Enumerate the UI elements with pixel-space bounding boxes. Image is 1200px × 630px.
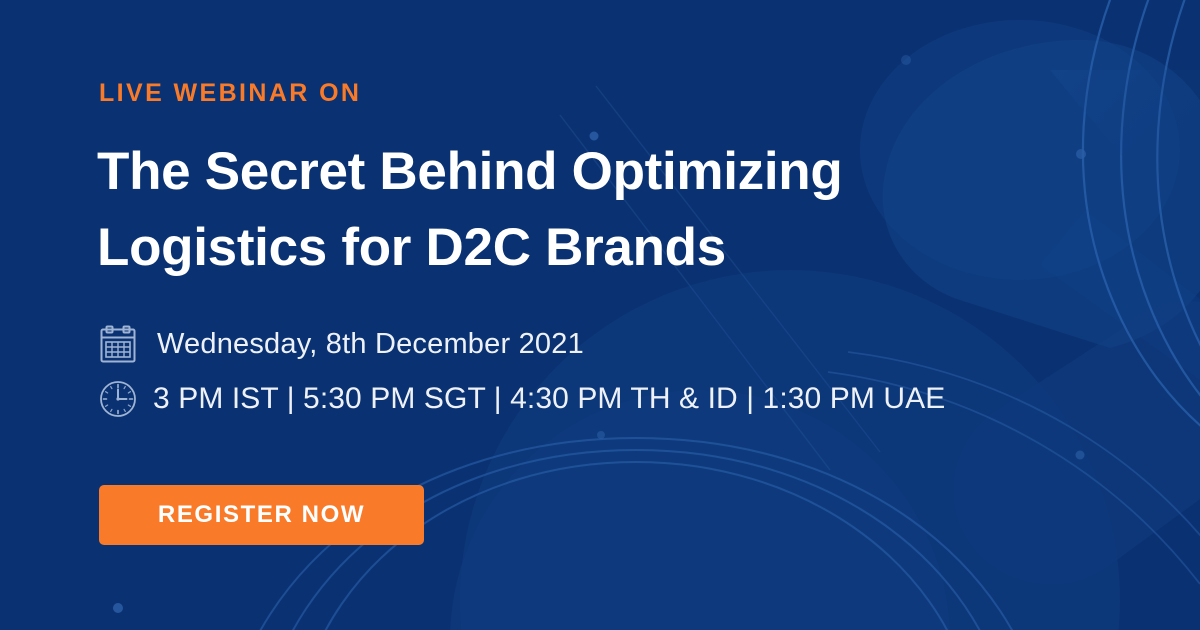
register-now-button[interactable]: REGISTER NOW <box>99 485 424 545</box>
page-title: The Secret Behind Optimizing Logistics f… <box>97 134 1057 286</box>
webinar-date-text: Wednesday, 8th December 2021 <box>157 330 584 359</box>
headline-line-1: The Secret Behind Optimizing <box>97 134 1057 210</box>
clock-icon <box>97 378 139 420</box>
webinar-time-text: 3 PM IST | 5:30 PM SGT | 4:30 PM TH & ID… <box>153 384 945 414</box>
calendar-icon <box>97 323 139 365</box>
banner-content: LIVE WEBINAR ON The Secret Behind Optimi… <box>0 0 1200 630</box>
webinar-date-row: Wednesday, 8th December 2021 <box>97 323 584 365</box>
eyebrow-label: LIVE WEBINAR ON <box>99 80 361 108</box>
webinar-banner: LIVE WEBINAR ON The Secret Behind Optimi… <box>0 0 1200 630</box>
headline-line-2: Logistics for D2C Brands <box>97 210 1057 286</box>
webinar-time-row: 3 PM IST | 5:30 PM SGT | 4:30 PM TH & ID… <box>97 378 945 420</box>
